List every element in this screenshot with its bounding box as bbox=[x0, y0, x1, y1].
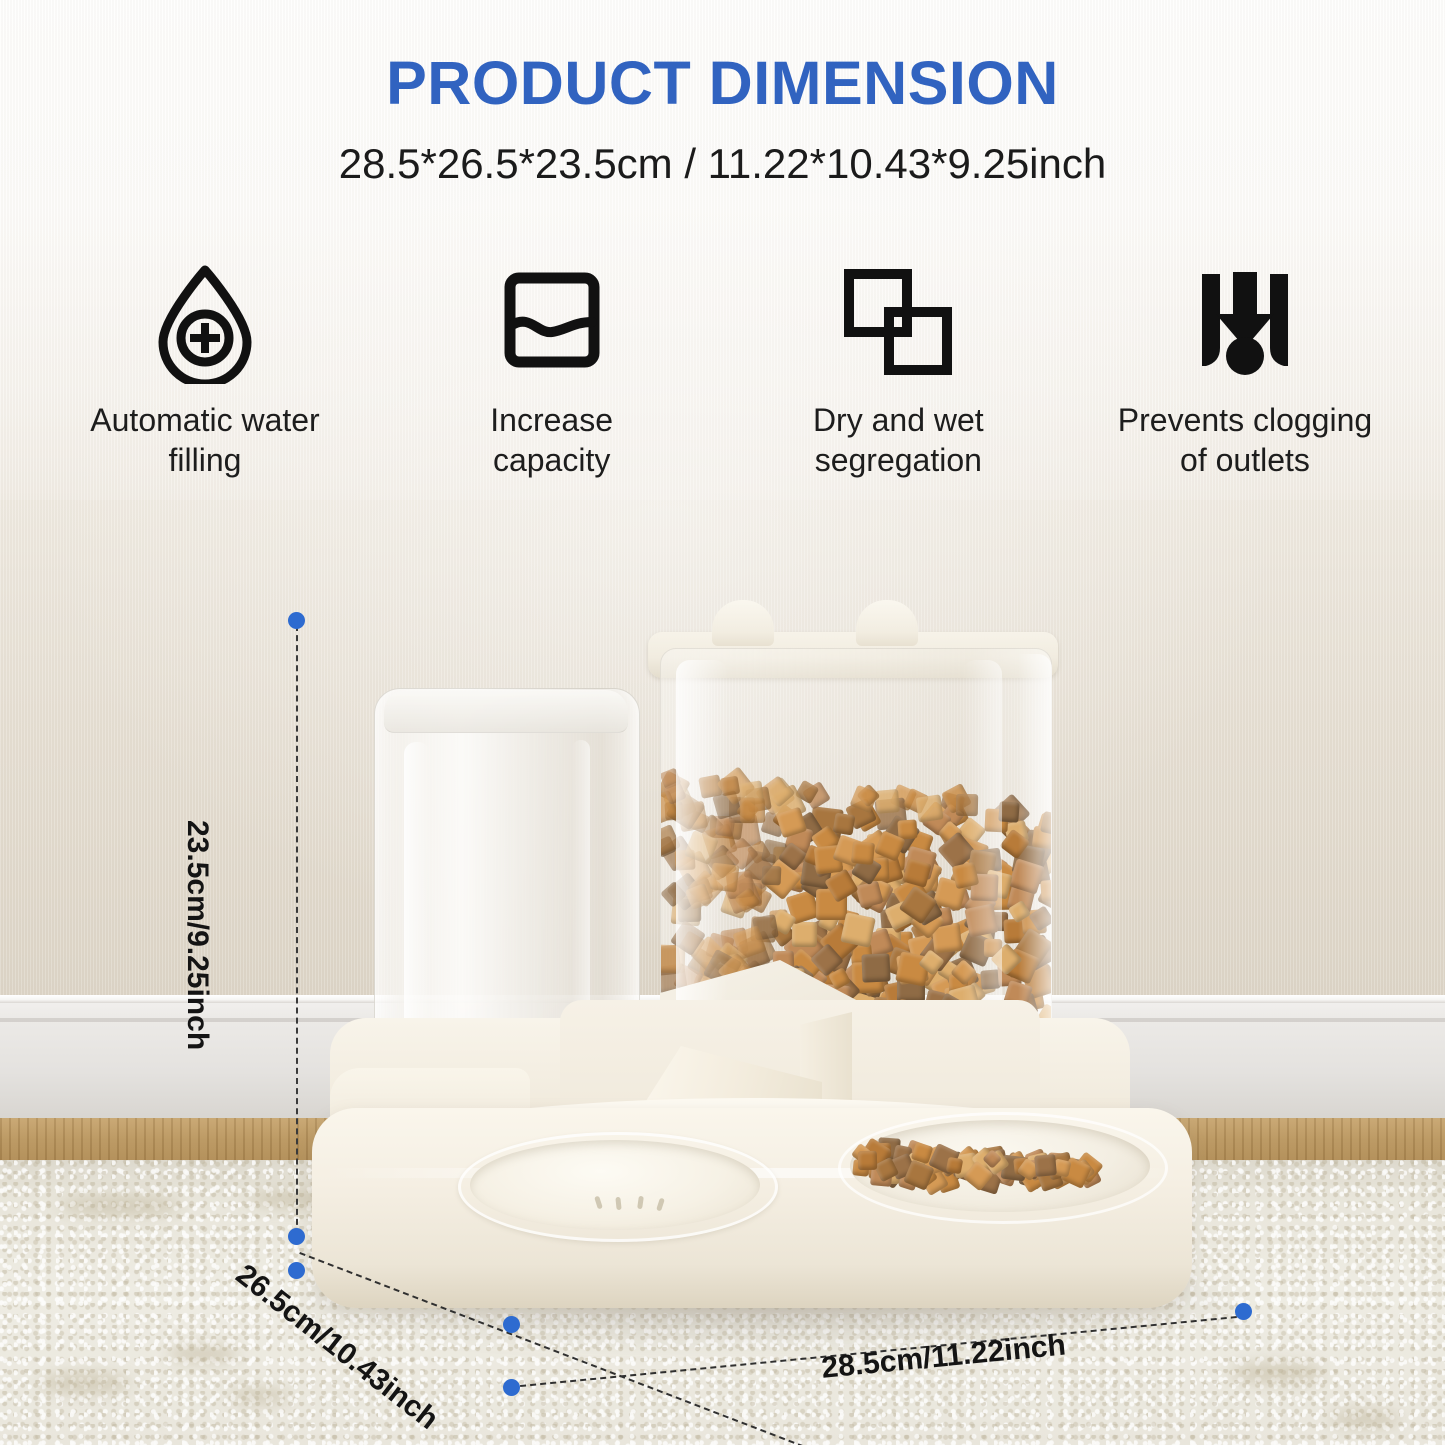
height-marker-bottom-dot bbox=[288, 1228, 305, 1245]
water-bowl-slots bbox=[596, 1196, 666, 1210]
kibble-piece bbox=[720, 776, 741, 797]
lid-tab-left bbox=[712, 600, 774, 646]
depth-marker-end-dot bbox=[503, 1316, 520, 1333]
food-container-right-edge bbox=[1018, 654, 1052, 1046]
water-bottle-cap bbox=[384, 690, 628, 733]
kibble-piece bbox=[792, 922, 818, 948]
product-photo bbox=[0, 0, 1445, 1445]
kibble-piece bbox=[964, 903, 998, 937]
kibble-piece bbox=[740, 797, 765, 822]
depth-marker-start-dot bbox=[288, 1262, 305, 1279]
kibble-piece bbox=[858, 1150, 877, 1169]
slot bbox=[637, 1196, 644, 1210]
product-dimension-infographic: PRODUCT DIMENSION 28.5*26.5*23.5cm / 11.… bbox=[0, 0, 1445, 1445]
slot bbox=[656, 1198, 665, 1212]
width-marker-end-dot bbox=[1235, 1303, 1252, 1320]
lid-tab-right bbox=[856, 600, 918, 646]
slot bbox=[615, 1197, 621, 1210]
height-marker-top-dot bbox=[288, 612, 305, 629]
kibble-piece bbox=[998, 802, 1019, 823]
height-dimension-line bbox=[296, 625, 298, 1235]
kibble-piece bbox=[861, 954, 891, 984]
kibble-piece bbox=[715, 817, 735, 837]
kibble-piece bbox=[956, 794, 979, 817]
width-marker-start-dot bbox=[503, 1379, 520, 1396]
bowl-kibble bbox=[852, 1112, 1142, 1192]
kibble-piece bbox=[875, 789, 900, 814]
kibble-piece bbox=[946, 1157, 963, 1174]
water-bowl bbox=[470, 1140, 760, 1230]
kibble-piece bbox=[1034, 1154, 1056, 1176]
kibble-piece bbox=[851, 841, 875, 865]
kibble-piece bbox=[762, 865, 782, 885]
kibble-piece bbox=[709, 863, 739, 893]
kibble-piece bbox=[916, 794, 944, 822]
height-dimension-label: 23.5cm/9.25inch bbox=[180, 820, 214, 1050]
slot bbox=[594, 1196, 603, 1210]
